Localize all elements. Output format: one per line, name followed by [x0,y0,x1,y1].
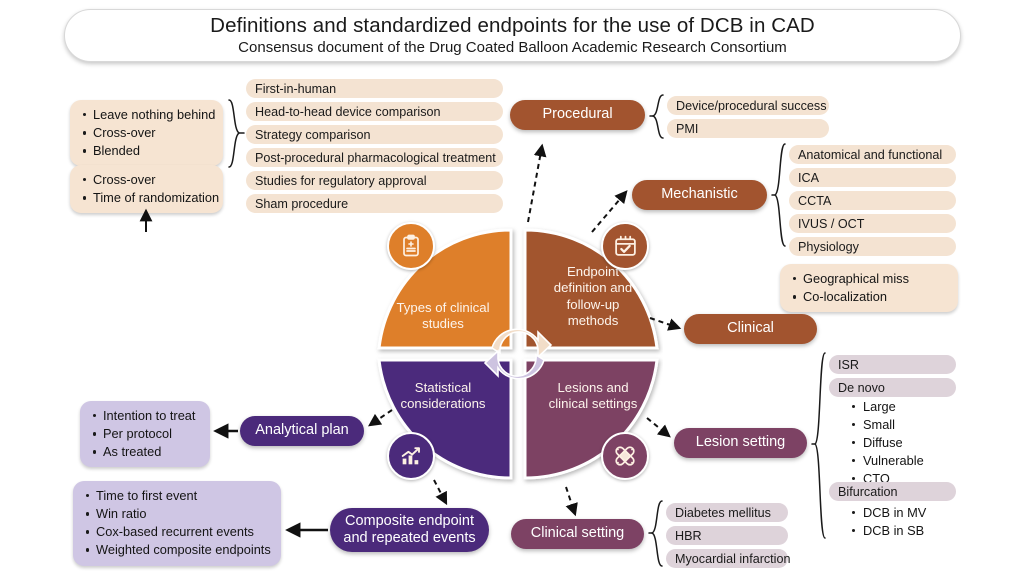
capsule-label: Clinical [727,320,774,337]
capsule-mechanistic[interactable]: Mechanistic [632,180,767,210]
list-item: As treated [92,443,200,461]
arrow-to-procedural [528,146,542,222]
mechanistic-row[interactable]: CCTA [789,191,956,210]
clinical-setting-row[interactable]: Myocardial infarction [666,549,788,568]
study-type-row[interactable]: Post-procedural pharmacological treatmen… [246,148,503,167]
mechanistic-row-label: IVUS / OCT [798,217,864,231]
list-item: Geographical miss [792,270,948,288]
lesion-row-label: Bifurcation [838,485,898,499]
clinical-setting-row[interactable]: Diabetes mellitus [666,503,788,522]
list-item: Leave nothing behind [82,106,213,124]
list-item: Time to first event [85,487,271,505]
procedural-row[interactable]: Device/procedural success [667,96,829,115]
study-type-label: Post-procedural pharmacological treatmen… [255,151,496,165]
mechanistic-row[interactable]: Anatomical and functional [789,145,956,164]
study-type-label: Sham procedure [255,197,348,211]
title-banner: Definitions and standardized endpoints f… [64,9,961,62]
list-item: Co-localization [792,288,948,306]
study-type-row[interactable]: Strategy comparison [246,125,503,144]
clipboard-icon [387,222,435,270]
list-item: DCB in SB [851,522,926,540]
mechanistic-row-label: ICA [798,171,819,185]
study-type-label: First-in-human [255,82,336,96]
lesion-setting-brace [812,352,828,540]
list-item: Cross-over [82,171,213,189]
list-item: Intention to treat [92,407,200,425]
bar-chart-icon [387,432,435,480]
page-title: Definitions and standardized endpoints f… [210,15,815,38]
capsule-lesion-setting[interactable]: Lesion setting [674,428,807,458]
list-item: Diffuse [851,434,924,452]
study-type-row[interactable]: Head-to-head device comparison [246,102,503,121]
procedural-row-label: PMI [676,122,698,136]
capsule-label: Mechanistic [661,186,738,203]
clinical-setting-row-label: Myocardial infarction [675,552,791,566]
capsule-label: Clinical setting [531,525,625,542]
list-item: DCB in MV [851,504,926,522]
lesion-row-label: ISR [838,358,859,372]
mechanistic-row-label: Anatomical and functional [798,148,942,162]
procedural-row[interactable]: PMI [667,119,829,138]
mechanistic-brace [772,143,788,248]
procedural-row-label: Device/procedural success [676,99,827,113]
mechanistic-row[interactable]: ICA [789,168,956,187]
list-item: Blended [82,142,213,160]
clinical-setting-row[interactable]: HBR [666,526,788,545]
calendar-check-icon [601,222,649,270]
capsule-composite-endpoint[interactable]: Composite endpoint and repeated events [330,508,489,552]
study-type-row[interactable]: Studies for regulatory approval [246,171,503,190]
capsule-label: Composite endpoint and repeated events [343,513,475,548]
capsule-label: Lesion setting [696,434,785,451]
list-item: Small [851,416,924,434]
clinical-setting-brace [649,500,665,568]
list-item: Cross-over [82,124,213,142]
mechanistic-notes-box[interactable]: Geographical miss Co-localization [780,264,958,312]
lesion-row[interactable]: ISR [829,355,956,374]
procedural-brace [650,94,666,140]
bandage-icon [601,432,649,480]
lesion-row-label: De novo [838,381,885,395]
mechanistic-row[interactable]: Physiology [789,237,956,256]
study-type-label: Strategy comparison [255,128,371,142]
lesion-row[interactable]: De novo [829,378,956,397]
study-type-label: Studies for regulatory approval [255,174,427,188]
capsule-procedural[interactable]: Procedural [510,100,645,130]
study-type-row[interactable]: First-in-human [246,79,503,98]
capsule-clinical[interactable]: Clinical [684,314,817,344]
clinical-setting-row-label: Diabetes mellitus [675,506,771,520]
bifurcation-sublist: DCB in MV DCB in SB [851,504,926,540]
list-item: Cox-based recurrent events [85,523,271,541]
mechanistic-row[interactable]: IVUS / OCT [789,214,956,233]
page-subtitle: Consensus document of the Drug Coated Ba… [238,40,787,57]
mechanistic-row-label: Physiology [798,240,859,254]
diagram-canvas: Definitions and standardized endpoints f… [0,0,1025,584]
list-item: Large [851,398,924,416]
lesion-row[interactable]: Bifurcation [829,482,956,501]
strategy-brace [226,99,244,169]
capsule-clinical-setting[interactable]: Clinical setting [511,519,644,549]
capsule-analytical-plan[interactable]: Analytical plan [240,416,364,446]
list-item: Per protocol [92,425,200,443]
de-novo-sublist: Large Small Diffuse Vulnerable CTO [851,398,924,488]
central-wheel: Types of clinical studies Endpoint defin… [373,218,663,490]
capsule-label: Procedural [542,106,612,123]
study-type-row[interactable]: Sham procedure [246,194,503,213]
capsule-label: Analytical plan [255,422,349,439]
study-type-label: Head-to-head device comparison [255,105,441,119]
list-item: Time of randomization [82,189,213,207]
list-item: Win ratio [85,505,271,523]
analytical-plan-box[interactable]: Intention to treat Per protocol As treat… [80,401,210,467]
list-item: Weighted composite endpoints [85,541,271,559]
arrow-to-clinical-setting [566,487,575,514]
list-item: Vulnerable [851,452,924,470]
randomization-options-box[interactable]: Cross-over Time of randomization [70,165,223,213]
clinical-setting-row-label: HBR [675,529,702,543]
composite-endpoint-box[interactable]: Time to first event Win ratio Cox-based … [73,481,281,566]
mechanistic-row-label: CCTA [798,194,831,208]
strategy-options-box[interactable]: Leave nothing behind Cross-over Blended [70,100,223,166]
